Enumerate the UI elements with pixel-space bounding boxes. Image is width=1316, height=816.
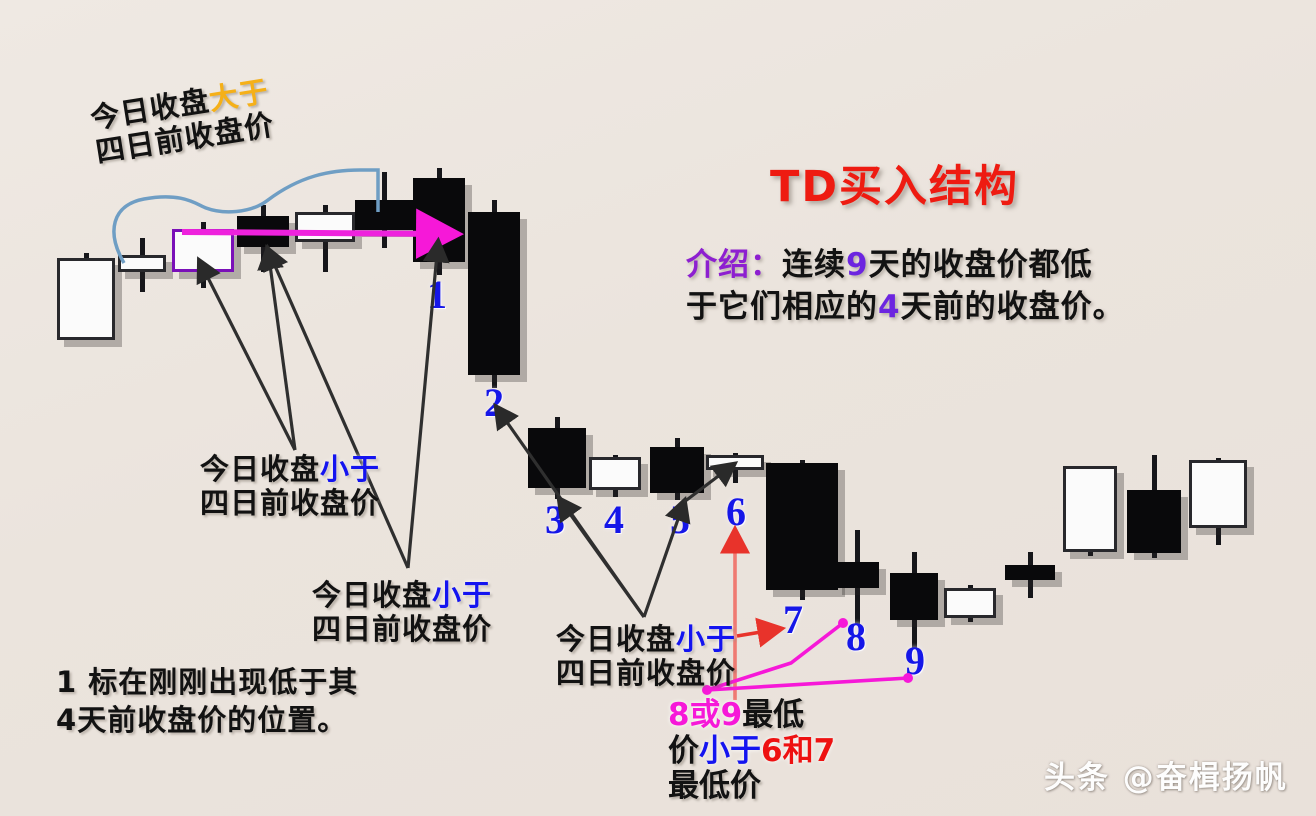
conclusion-lessthan: 小于 bbox=[699, 733, 761, 769]
candle-body bbox=[237, 216, 289, 247]
candle-14-count-9 bbox=[890, 552, 938, 650]
annotation-line-1: 今日收盘小于 bbox=[556, 622, 736, 656]
conclusion-block: 8或9最低 价小于6和7 最低价 bbox=[668, 698, 835, 805]
candle-18 bbox=[1127, 455, 1181, 558]
note-text: 天前收盘价的位置。 bbox=[77, 703, 347, 737]
conclusion-line-2: 价小于6和7 bbox=[668, 734, 835, 770]
intro-number-4: 4 bbox=[878, 289, 901, 325]
candle-8-count-3 bbox=[528, 417, 586, 499]
note-number-1: 1 bbox=[56, 665, 77, 699]
annotation-today-close-less-3: 今日收盘小于 四日前收盘价 bbox=[556, 622, 736, 690]
candle-19 bbox=[1189, 458, 1247, 545]
intro-text: 天的收盘价都低 bbox=[869, 247, 1093, 283]
intro-line-2: 于它们相应的4天前的收盘价。 bbox=[686, 287, 1206, 329]
candle-16 bbox=[1005, 552, 1055, 598]
conclusion-text: 价 bbox=[668, 733, 699, 769]
candle-6-count-1 bbox=[413, 168, 465, 275]
candle-body bbox=[890, 573, 938, 620]
candle-15 bbox=[944, 585, 996, 622]
candle-12-count-7 bbox=[766, 460, 838, 600]
note-rule-1: 1 标在刚刚出现低于其 4天前收盘价的位置。 bbox=[56, 664, 358, 739]
note-line-1: 1 标在刚刚出现低于其 bbox=[56, 664, 358, 702]
annotation-line-1: 今日收盘小于 bbox=[312, 578, 492, 612]
candle-body bbox=[835, 562, 879, 588]
chart-canvas: 1 2 3 4 5 6 7 8 9 bbox=[0, 0, 1316, 816]
annotation-line-2: 四日前收盘价 bbox=[556, 656, 736, 690]
conclusion-89: 8或9 bbox=[668, 697, 742, 733]
count-label-1: 1 bbox=[427, 275, 447, 315]
candle-17 bbox=[1063, 470, 1117, 556]
candle-body bbox=[589, 457, 641, 490]
candle-body bbox=[355, 200, 413, 230]
candle-body bbox=[1063, 466, 1117, 552]
candle-13-count-8 bbox=[835, 530, 879, 625]
pointer-arrows-dark bbox=[200, 243, 733, 617]
annotation-today-close-greater: 今日收盘大于 四日前收盘价 bbox=[88, 74, 277, 170]
candle-body bbox=[528, 428, 586, 488]
intro-text: 连续 bbox=[782, 247, 846, 283]
page-title: TD买入结构 bbox=[770, 152, 1019, 214]
candle-4 bbox=[295, 205, 355, 272]
candle-9-count-4 bbox=[589, 455, 641, 497]
annotation-today-close-less-1: 今日收盘小于 四日前收盘价 bbox=[200, 452, 380, 520]
count-label-8: 8 bbox=[846, 617, 866, 657]
candle-body bbox=[766, 463, 838, 590]
annotation-today-close-less-2: 今日收盘小于 四日前收盘价 bbox=[312, 578, 492, 646]
candle-body bbox=[295, 212, 355, 242]
annotation-line-2: 四日前收盘价 bbox=[312, 612, 492, 646]
count-label-9: 9 bbox=[905, 641, 925, 681]
intro-text: 天前的收盘价。 bbox=[901, 289, 1125, 325]
count-label-4: 4 bbox=[604, 500, 624, 540]
annotation-line-2: 四日前收盘价 bbox=[200, 486, 380, 520]
count-label-2: 2 bbox=[484, 383, 504, 423]
candle-5 bbox=[355, 172, 413, 248]
candle-10-count-5 bbox=[650, 438, 704, 500]
intro-paragraph: 介绍：连续9天的收盘价都低 于它们相应的4天前的收盘价。 bbox=[686, 245, 1206, 329]
note-text: 标在刚刚出现低于其 bbox=[77, 665, 358, 699]
annotation-line-1: 今日收盘小于 bbox=[200, 452, 380, 486]
annotation-text: 今日收盘 bbox=[200, 452, 320, 486]
count-label-3: 3 bbox=[545, 500, 565, 540]
note-number-4: 4 bbox=[56, 703, 77, 737]
note-line-2: 4天前收盘价的位置。 bbox=[56, 702, 358, 740]
annotation-emphasis: 小于 bbox=[676, 622, 736, 656]
intro-label: 介绍： bbox=[686, 247, 782, 283]
annotation-text: 今日收盘 bbox=[312, 578, 432, 612]
annotation-text: 今日收盘 bbox=[556, 622, 676, 656]
watermark: 头条 @奋楫扬帆 bbox=[1044, 752, 1288, 797]
candle-body bbox=[118, 255, 166, 272]
count-label-5: 5 bbox=[670, 500, 690, 540]
count-label-7: 7 bbox=[783, 600, 803, 640]
candle-body bbox=[172, 229, 234, 272]
intro-text: 于它们相应的 bbox=[686, 289, 878, 325]
conclusion-text: 最低 bbox=[742, 697, 804, 733]
conclusion-line-3: 最低价 bbox=[668, 769, 835, 805]
candle-body bbox=[706, 455, 764, 470]
candle-0 bbox=[57, 253, 115, 340]
candle-1 bbox=[118, 238, 166, 292]
candle-body bbox=[57, 258, 115, 340]
candle-body bbox=[650, 447, 704, 493]
candle-11-count-6 bbox=[706, 453, 764, 483]
candle-body bbox=[944, 588, 996, 618]
annotation-emphasis: 小于 bbox=[320, 452, 380, 486]
candle-2 bbox=[172, 222, 234, 288]
candle-body bbox=[413, 178, 465, 262]
candle-body bbox=[1127, 490, 1181, 553]
intro-number-9: 9 bbox=[846, 247, 869, 283]
intro-line-1: 介绍：连续9天的收盘价都低 bbox=[686, 245, 1206, 287]
count-label-6: 6 bbox=[726, 492, 746, 532]
candle-body bbox=[468, 212, 520, 375]
annotation-emphasis: 小于 bbox=[432, 578, 492, 612]
conclusion-67: 6和7 bbox=[761, 733, 835, 769]
candle-3 bbox=[237, 205, 289, 272]
candle-7-count-2 bbox=[468, 200, 520, 388]
candle-body bbox=[1189, 460, 1247, 528]
candle-body bbox=[1005, 565, 1055, 580]
conclusion-line-1: 8或9最低 bbox=[668, 698, 835, 734]
